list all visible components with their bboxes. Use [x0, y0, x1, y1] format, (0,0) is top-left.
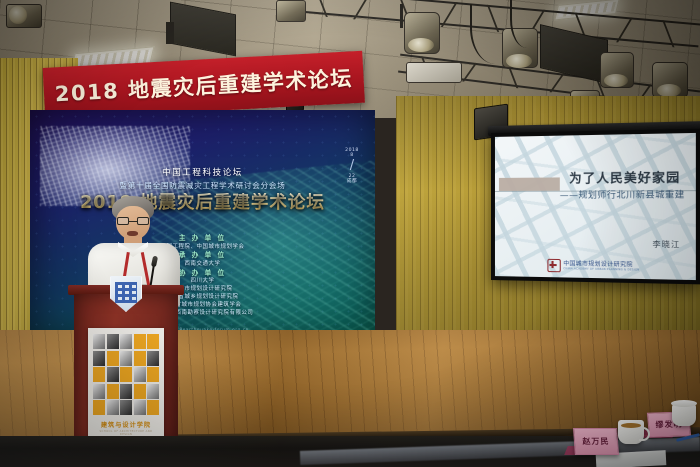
poster-tile-grid — [93, 334, 159, 415]
slide-map-background — [495, 133, 696, 280]
poster-tile — [134, 334, 146, 349]
teacup — [618, 420, 644, 444]
poster-caption-cn: 建筑与设计学院 — [93, 420, 159, 429]
poster-tile — [134, 400, 146, 415]
slide-title: 为了人民美好家园 — [569, 168, 680, 187]
slide-subtitle: ——规划师行北川新县城重建 — [560, 188, 685, 201]
university-shield-emblem — [110, 276, 142, 312]
poster-tile — [120, 334, 132, 349]
poster-tile — [134, 384, 146, 399]
caupd-logo-icon — [547, 259, 560, 272]
poster-tile — [120, 351, 132, 366]
podium-body: 建筑与设计学院 SCHOOL OF ARCHITECTURE AND DESIG… — [74, 294, 178, 444]
projected-slide: 为了人民美好家园 ——规划师行北川新县城重建 李晓江 中国城市规划设计研究院 C… — [495, 133, 696, 280]
poster-tile — [147, 367, 159, 382]
backdrop-line2: 暨第十届全国防震减灾工程学术研讨会分会场 — [30, 181, 375, 190]
projection-screen: 为了人民美好家园 ——规划师行北川新县城重建 李晓江 中国城市规划设计研究院 C… — [491, 129, 700, 285]
poster-tile — [107, 334, 119, 349]
name-card-text: 赵万民 — [582, 436, 610, 447]
podium: 建筑与设计学院 SCHOOL OF ARCHITECTURE AND DESIG… — [72, 285, 180, 453]
poster-tile — [120, 400, 132, 415]
slide-author: 李晓江 — [652, 238, 680, 250]
poster-tile — [134, 367, 146, 382]
poster-tile — [107, 400, 119, 415]
glasses-icon — [117, 217, 149, 225]
poster-tile — [93, 400, 105, 415]
poster-tile — [147, 400, 159, 415]
poster-tile — [147, 384, 159, 399]
speaker-mouth — [127, 231, 138, 236]
tea-surface — [621, 423, 641, 428]
poster-tile — [107, 367, 119, 382]
poster-tile — [107, 351, 119, 366]
red-banner-text: 2018 地震灾后重建学术论坛 — [54, 62, 353, 108]
projection-screen-frame: 为了人民美好家园 ——规划师行北川新县城重建 李晓江 中国城市规划设计研究院 C… — [491, 129, 700, 285]
poster-tile — [147, 351, 159, 366]
name-card: 赵万民 — [573, 428, 619, 455]
slide-org-logo: 中国城市规划设计研究院 CHINA ACADEMY OF URBAN PLANN… — [547, 259, 640, 274]
poster-tile — [107, 384, 119, 399]
conference-hall-photo: 2018 地震灾后重建学术论坛 2018 8 / 22 成都 中国工程科技论坛 … — [0, 0, 700, 467]
poster-tile — [93, 351, 105, 366]
poster-tile — [93, 384, 105, 399]
emblem-pattern — [115, 282, 137, 303]
poster-tile — [147, 334, 159, 349]
poster-tile — [120, 367, 132, 382]
poster-tile — [134, 351, 146, 366]
poster-tile — [120, 384, 132, 399]
slide-color-band — [499, 177, 560, 191]
lidded-cup — [672, 404, 696, 426]
slide-org-name-en: CHINA ACADEMY OF URBAN PLANNING & DESIGN — [563, 267, 639, 271]
poster-tile — [93, 334, 105, 349]
cup-lid — [671, 400, 697, 407]
podium-poster-panel: 建筑与设计学院 SCHOOL OF ARCHITECTURE AND DESIG… — [88, 328, 164, 440]
poster-tile — [93, 367, 105, 382]
backdrop-line1: 中国工程科技论坛 — [30, 168, 375, 179]
